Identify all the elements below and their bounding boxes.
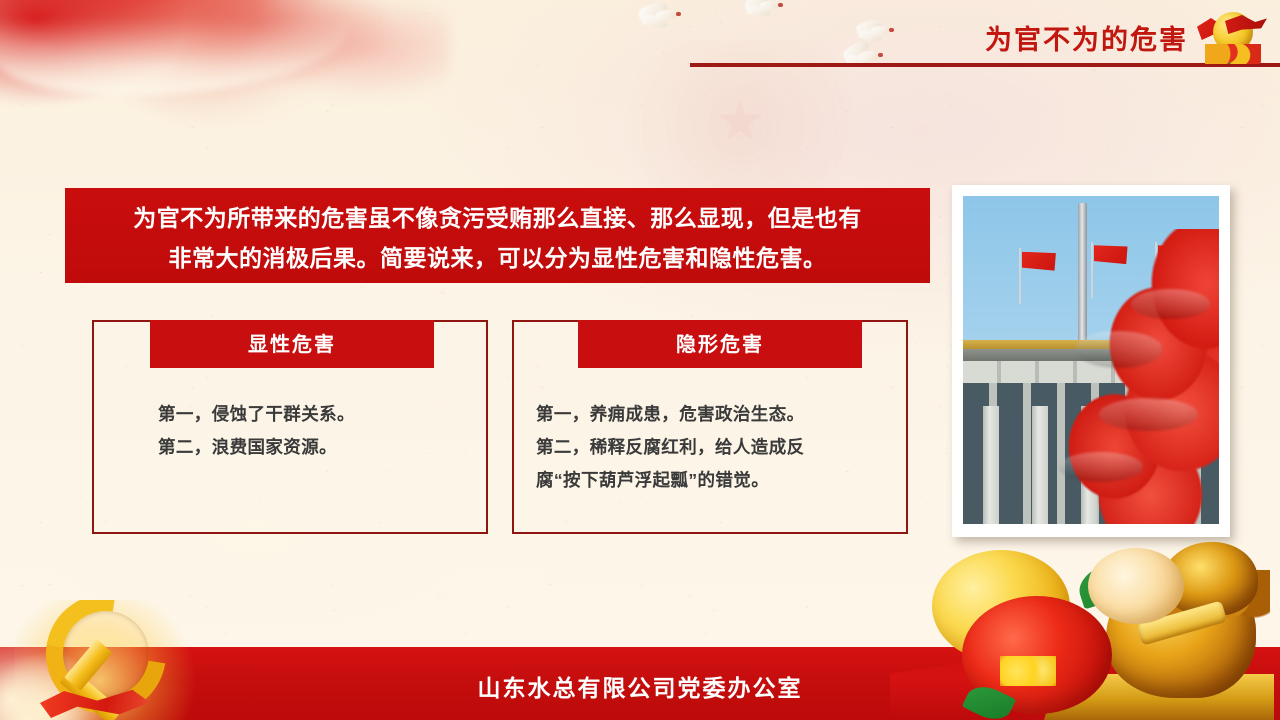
body-line: 腐“按下葫芦浮起瓢”的错觉。: [536, 464, 890, 497]
dove-icon: [854, 18, 894, 46]
star-shape-icon: [717, 99, 763, 145]
banner-line: 为官不为所带来的危害虽不像贪污受贿那么直接、那么显现，但是也有: [133, 198, 862, 238]
body-line: 第二，浪费国家资源。: [158, 431, 460, 464]
explicit-harm-heading: 显性危害: [150, 320, 434, 368]
body-line: 第一，侵蚀了干群关系。: [158, 398, 460, 431]
main-statement-banner: 为官不为所带来的危害虽不像贪污受贿那么直接、那么显现，但是也有 非常大的消极后果…: [65, 188, 930, 283]
explicit-harm-body: 第一，侵蚀了干群关系。 第二，浪费国家资源。: [94, 398, 486, 464]
column-shape: [983, 406, 999, 524]
slide-root: 为官不为的危害 为官不为所带来的危害虽不像贪污受贿那么直接、那么显现，但是也有 …: [0, 0, 1280, 720]
page-title: 为官不为的危害: [985, 18, 1188, 57]
flag-fold-shape: [1131, 289, 1211, 319]
body-line: 第二，稀释反腐红利，给人造成反: [536, 431, 890, 464]
banner-line: 非常大的消极后果。简要说来，可以分为显性危害和隐性危害。: [169, 238, 827, 278]
implicit-harm-heading: 隐形危害: [578, 320, 862, 368]
flag-fold-shape: [1059, 452, 1143, 482]
dove-icon: [840, 42, 882, 72]
implicit-harm-body: 第一，养痈成患，危害政治生态。 第二，稀释反腐红利，给人造成反 腐“按下葫芦浮起…: [514, 398, 906, 497]
waving-red-flags-shape: [1035, 229, 1219, 524]
photo-frame: [952, 185, 1230, 537]
heading-label: 显性危害: [248, 328, 336, 357]
party-hammer-sickle-emblem-icon: [0, 600, 254, 720]
flag-fold-shape: [1075, 331, 1163, 367]
peony-stamen: [1000, 656, 1056, 686]
peony-flower-cream: [1088, 548, 1184, 624]
flower-cluster-icon: [1205, 44, 1261, 64]
flag-fold-shape: [1099, 398, 1199, 431]
small-flagpole-shape: [1019, 248, 1021, 304]
lion-and-peony-decoration: [890, 520, 1280, 720]
implicit-harm-box: 隐形危害 第一，养痈成患，危害政治生态。 第二，稀释反腐红利，给人造成反 腐“按…: [512, 320, 908, 534]
body-line: 第一，养痈成患，危害政治生态。: [536, 398, 890, 431]
explicit-harm-box: 显性危害 第一，侵蚀了干群关系。 第二，浪费国家资源。: [92, 320, 488, 534]
party-emblem-icon: [1195, 8, 1269, 66]
great-hall-flags-photo: [963, 196, 1219, 524]
dove-icon: [636, 2, 680, 32]
header-divider-rule: [690, 63, 1280, 67]
heading-label: 隐形危害: [676, 328, 764, 357]
dove-icon: [742, 0, 782, 20]
